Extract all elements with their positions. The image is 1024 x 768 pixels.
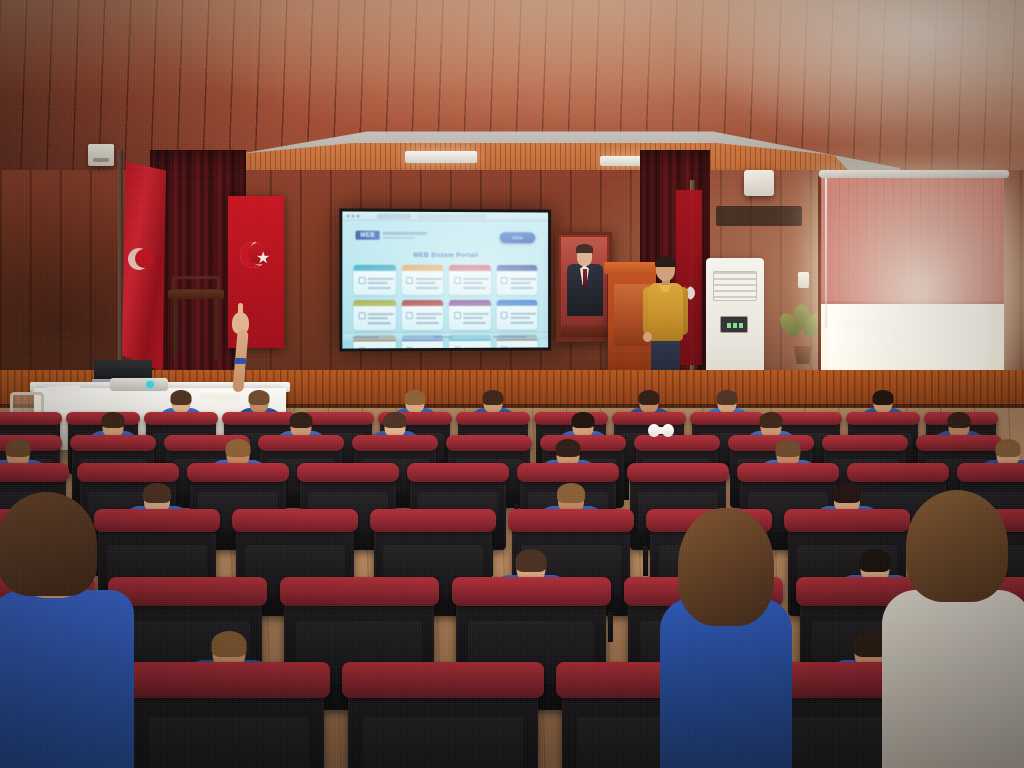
foreground-student: [882, 494, 1024, 768]
logo-subtitle-line-2: [383, 236, 415, 239]
login-button[interactable]: Giris: [500, 232, 536, 243]
blind-cord[interactable]: [825, 178, 827, 328]
card-label-line: [368, 313, 394, 315]
card-label-line: [510, 282, 530, 284]
blind-roller[interactable]: [819, 170, 1009, 178]
card-label-line: [510, 312, 536, 314]
student-hair: [405, 390, 426, 405]
portal-card[interactable]: [401, 300, 443, 330]
seat-headrest: [456, 412, 530, 425]
projector[interactable]: [110, 378, 168, 391]
student-hair: [760, 412, 783, 428]
student-hair: [906, 490, 1008, 602]
portal-card[interactable]: [496, 265, 537, 295]
seat-headrest: [128, 662, 329, 698]
card-icon: [358, 312, 365, 319]
seat-headrest: [737, 463, 839, 482]
seat-headrest: [508, 509, 633, 532]
wall-speaker-left: [88, 144, 114, 166]
seat-headrest: [258, 435, 345, 451]
seat-headrest: [144, 412, 218, 425]
student-hair: [873, 390, 894, 405]
card-accent-bar: [449, 300, 490, 306]
student-hair: [556, 439, 581, 457]
auditorium-seat[interactable]: [134, 678, 324, 768]
student-hair: [639, 390, 660, 405]
seat-cushion: [363, 717, 523, 768]
student-hair: [717, 390, 738, 405]
card-label-line: [368, 317, 388, 319]
card-label-line: [510, 286, 533, 288]
card-accent-bar: [353, 265, 395, 271]
portal-logo-text: MEB: [356, 231, 380, 239]
window: [818, 176, 1004, 394]
student-hair: [0, 492, 97, 596]
ac-display: [720, 316, 748, 333]
wristband: [234, 358, 247, 364]
student-hair: [572, 412, 595, 428]
portal-card[interactable]: [449, 300, 490, 330]
seat-headrest: [370, 509, 495, 532]
portal-card[interactable]: [496, 300, 537, 330]
address-bar[interactable]: [417, 214, 487, 219]
card-label-line: [463, 312, 489, 314]
seat-headrest: [634, 435, 721, 451]
seat-headrest: [452, 577, 611, 606]
auditorium-photo: ★ MEB Giris MEB Siste: [0, 0, 1024, 768]
seat-headrest: [77, 463, 179, 482]
card-icon: [453, 277, 460, 284]
student-hair: [833, 483, 861, 503]
projector-lens: [146, 381, 154, 388]
student-hair: [678, 508, 774, 626]
card-label-line: [415, 322, 438, 324]
card-icon: [501, 312, 508, 319]
card-label-line: [415, 348, 441, 349]
card-label-line: [510, 278, 536, 280]
seat-headrest: [297, 463, 399, 482]
seat-headrest: [957, 463, 1024, 482]
seat-headrest: [342, 662, 543, 698]
card-icon: [453, 347, 460, 349]
portal-card[interactable]: [449, 265, 490, 295]
seat-cushion: [149, 717, 309, 768]
card-label-line: [368, 287, 391, 289]
card-label-line: [368, 322, 391, 324]
card-accent-bar: [449, 265, 490, 271]
card-icon: [453, 312, 460, 319]
seat-headrest: [232, 509, 357, 532]
seat-headrest: [407, 463, 509, 482]
student-hair: [516, 549, 547, 572]
wooden-stool: [168, 276, 224, 362]
roller-blind[interactable]: [821, 176, 1004, 304]
card-label-line: [415, 277, 441, 279]
screen-surface: MEB Giris MEB Sistem Portali: [342, 211, 548, 348]
card-label-line: [510, 317, 530, 319]
card-icon: [358, 347, 365, 348]
wall-speaker-right: [744, 170, 774, 196]
seat-leg: [608, 612, 613, 642]
card-label-line: [368, 282, 388, 284]
screen-content: MEB Giris MEB Sistem Portali: [342, 211, 548, 348]
card-accent-bar: [496, 300, 537, 306]
ataturk-portrait: [556, 232, 612, 342]
card-label-line: [368, 348, 394, 349]
card-icon: [501, 277, 508, 284]
seat-headrest: [846, 412, 920, 425]
auditorium-seat[interactable]: [348, 678, 538, 768]
student-hair: [557, 483, 585, 503]
student-hair: [143, 483, 171, 503]
student-hair: [996, 439, 1021, 457]
portal-page: MEB Giris MEB Sistem Portali: [342, 221, 548, 341]
student-uniform: [0, 590, 134, 768]
turkish-flag-pole: [122, 162, 166, 372]
logo-subtitle-line: [383, 232, 427, 235]
papers: [46, 385, 80, 393]
seat-headrest: [0, 412, 62, 425]
student-hair: [483, 390, 504, 405]
card-label-line: [368, 277, 394, 279]
seat-headrest: [187, 463, 289, 482]
presenter: [640, 258, 690, 382]
traffic-light-dots: [346, 215, 359, 218]
student-hair: [776, 439, 801, 457]
air-conditioner[interactable]: [706, 258, 764, 386]
crescent-icon: [128, 248, 150, 270]
foreground-student: [0, 498, 134, 768]
student-hair: [384, 412, 407, 428]
seat-leg: [643, 546, 648, 576]
portal-card[interactable]: [353, 300, 395, 330]
card-label-line: [463, 347, 489, 348]
seat-headrest: [70, 435, 157, 451]
card-accent-bar: [401, 265, 443, 271]
card-accent-bar: [496, 265, 537, 271]
student-hair: [290, 412, 313, 428]
login-button-label: Giris: [500, 232, 536, 243]
card-icon: [406, 277, 413, 284]
student-hair: [102, 412, 125, 428]
student-uniform: [882, 590, 1024, 768]
card-accent-bar: [353, 300, 395, 306]
seat-headrest: [847, 463, 949, 482]
seat-headrest: [822, 435, 909, 451]
student-hair: [948, 412, 971, 428]
card-label-line: [415, 282, 435, 284]
seat-headrest: [0, 463, 69, 482]
seat-headrest: [627, 463, 729, 482]
card-label-line: [463, 282, 483, 284]
raised-hand: [232, 312, 248, 398]
browser-tab[interactable]: [377, 214, 411, 219]
card-label-line: [510, 321, 533, 323]
card-label-line: [463, 317, 483, 319]
seat-headrest: [446, 435, 533, 451]
card-label-line: [463, 321, 486, 323]
card-label-line: [415, 313, 441, 315]
seat-headrest: [280, 577, 439, 606]
card-icon: [501, 347, 508, 349]
card-label-line: [415, 317, 435, 319]
star-icon: ★: [256, 251, 270, 267]
portal-card[interactable]: [401, 265, 443, 295]
hair-bow: [648, 424, 674, 437]
card-label-line: [463, 278, 489, 280]
projection-screen: MEB Giris MEB Sistem Portali: [339, 208, 551, 351]
seat-headrest: [517, 463, 619, 482]
card-label-line: [463, 286, 486, 288]
student-hair: [212, 631, 247, 657]
portal-card[interactable]: [353, 265, 395, 295]
card-icon: [406, 347, 413, 348]
student-hair: [226, 439, 251, 457]
card-icon: [406, 312, 413, 319]
card-accent-bar: [401, 300, 443, 306]
seat-headrest: [352, 435, 439, 451]
card-label-line: [415, 287, 438, 289]
foreground-student: [660, 512, 792, 768]
card-label-line: [510, 347, 536, 348]
portal-footer: [342, 332, 548, 341]
wall-board: [716, 206, 802, 226]
card-icon: [358, 277, 365, 284]
light-switch[interactable]: [798, 272, 809, 288]
portal-title: MEB Sistem Portali: [342, 252, 548, 259]
student-hair: [171, 390, 192, 405]
ac-grill: [713, 271, 757, 301]
ceiling-light: [405, 151, 477, 163]
student-hair: [249, 390, 270, 405]
student-hair: [6, 439, 31, 457]
